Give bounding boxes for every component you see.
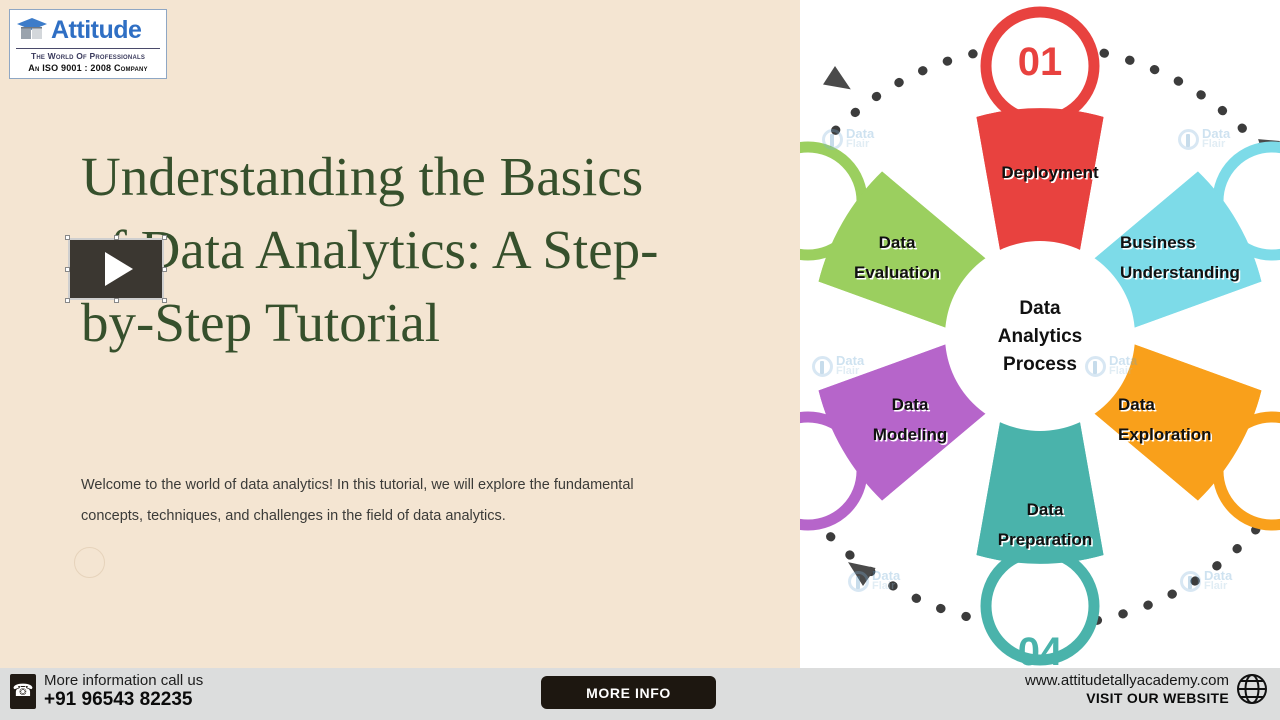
- selection-handle[interactable]: [65, 298, 70, 303]
- center-line-1: Data: [960, 295, 1120, 323]
- page-title: Understanding the Basics of Data Analyti…: [81, 140, 681, 359]
- video-play-button[interactable]: [68, 238, 164, 300]
- selection-handle[interactable]: [65, 235, 70, 240]
- step-number-04: 04: [1000, 630, 1080, 668]
- logo-row: Attitude: [15, 13, 161, 47]
- more-info-button[interactable]: MORE INFO: [541, 676, 716, 709]
- data-analytics-process-diagram: 01 04 Data Analytics Process Deployment …: [800, 0, 1280, 668]
- logo-divider: [16, 48, 160, 49]
- selection-handle[interactable]: [114, 298, 119, 303]
- play-triangle-icon: [105, 252, 133, 286]
- selection-handle[interactable]: [162, 267, 167, 272]
- slide-body-text: Welcome to the world of data analytics! …: [81, 470, 689, 532]
- globe-icon: [1236, 673, 1268, 705]
- selection-handle[interactable]: [65, 267, 70, 272]
- step-number-01: 01: [1000, 40, 1080, 85]
- company-logo[interactable]: Attitude The World Of Professionals An I…: [9, 9, 167, 79]
- website-block: www.attitudetallyacademy.com VISIT OUR W…: [1025, 673, 1268, 705]
- logo-certification: An ISO 9001 : 2008 Company: [15, 63, 161, 73]
- website-cta-label: VISIT OUR WEBSITE: [1025, 691, 1229, 705]
- phone-number[interactable]: +91 96543 82235: [44, 690, 203, 709]
- decorative-circle: [74, 547, 105, 578]
- phone-icon: ☎: [10, 674, 36, 709]
- diagram-center-label: Data Analytics Process: [960, 295, 1120, 379]
- website-url[interactable]: www.attitudetallyacademy.com: [1025, 673, 1229, 688]
- logo-tagline: The World Of Professionals: [15, 51, 161, 61]
- ring-arrow: [823, 66, 857, 99]
- selection-handle[interactable]: [162, 235, 167, 240]
- center-line-2: Analytics: [960, 323, 1120, 351]
- call-us-block: ☎ More information call us +91 96543 822…: [10, 673, 203, 709]
- graduation-cap-icon: [15, 16, 49, 44]
- center-line-3: Process: [960, 351, 1120, 379]
- selection-handle[interactable]: [114, 235, 119, 240]
- website-texts: www.attitudetallyacademy.com VISIT OUR W…: [1025, 673, 1229, 705]
- slide-left-panel: Attitude The World Of Professionals An I…: [0, 0, 800, 668]
- logo-brand-text: Attitude: [51, 16, 141, 44]
- call-texts: More information call us +91 96543 82235: [44, 673, 203, 709]
- call-label: More information call us: [44, 673, 203, 688]
- selection-handle[interactable]: [162, 298, 167, 303]
